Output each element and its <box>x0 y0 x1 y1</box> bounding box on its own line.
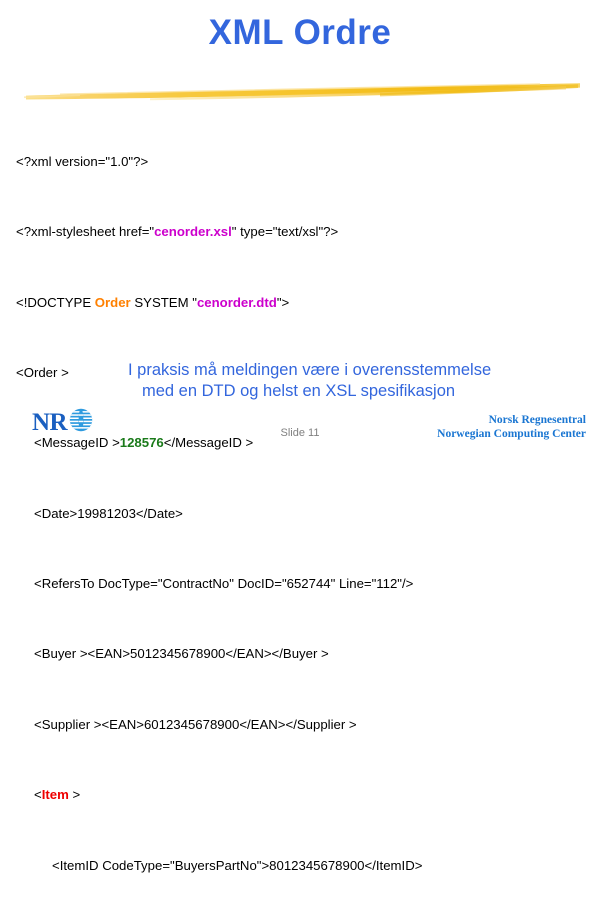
code-text: < <box>34 787 42 802</box>
code-text: <Order > <box>16 365 69 380</box>
code-line-buyer: <Buyer ><EAN>5012345678900</EAN></Buyer … <box>16 645 576 663</box>
code-text: " type="text/xsl"?> <box>232 224 338 239</box>
code-text: <Supplier ><EAN>6012345678900</EAN></Sup… <box>34 717 357 732</box>
caption-line-1: I praksis må meldingen være i overensste… <box>128 360 588 381</box>
code-line-xml-declaration: <?xml version="1.0"?> <box>16 153 576 171</box>
code-text: <!DOCTYPE <box>16 295 95 310</box>
code-text: <Date>19981203</Date> <box>34 506 183 521</box>
code-text: <RefersTo DocType="ContractNo" DocID="65… <box>34 576 413 591</box>
code-line-item-open: <Item > <box>16 786 576 804</box>
org-name-line-1: Norsk Regnesentral <box>437 414 586 428</box>
page-title: XML Ordre <box>0 12 600 54</box>
caption-note: I praksis må meldingen være i overensste… <box>128 360 588 402</box>
code-text: <Buyer ><EAN>5012345678900</EAN></Buyer … <box>34 646 329 661</box>
code-text: <ItemID CodeType="BuyersPartNo">80123456… <box>52 858 422 873</box>
code-text: <?xml version="1.0"?> <box>16 154 148 169</box>
org-name-line-2: Norwegian Computing Center <box>437 428 586 442</box>
token-item-name: Item <box>42 787 69 802</box>
organization-name: Norsk Regnesentral Norwegian Computing C… <box>437 414 586 441</box>
code-text: SYSTEM " <box>131 295 197 310</box>
code-line-date: <Date>19981203</Date> <box>16 505 576 523</box>
token-doctype-name: Order <box>95 295 131 310</box>
code-text: > <box>69 787 80 802</box>
code-line-supplier: <Supplier ><EAN>6012345678900</EAN></Sup… <box>16 716 576 734</box>
code-line-doctype: <!DOCTYPE Order SYSTEM "cenorder.dtd"> <box>16 294 576 312</box>
token-dtd-filename: cenorder.dtd <box>197 295 277 310</box>
token-xsl-filename: cenorder.xsl <box>154 224 232 239</box>
xml-code-block: <?xml version="1.0"?> <?xml-stylesheet h… <box>16 100 576 900</box>
code-line-refersto: <RefersTo DocType="ContractNo" DocID="65… <box>16 575 576 593</box>
code-line-stylesheet-pi: <?xml-stylesheet href="cenorder.xsl" typ… <box>16 223 576 241</box>
code-line-itemid: <ItemID CodeType="BuyersPartNo">80123456… <box>16 857 576 875</box>
code-text: <?xml-stylesheet href=" <box>16 224 154 239</box>
code-text: "> <box>277 295 289 310</box>
caption-line-2: med en DTD og helst en XSL spesifikasjon <box>128 381 588 402</box>
slide-footer: NR <box>0 405 600 450</box>
